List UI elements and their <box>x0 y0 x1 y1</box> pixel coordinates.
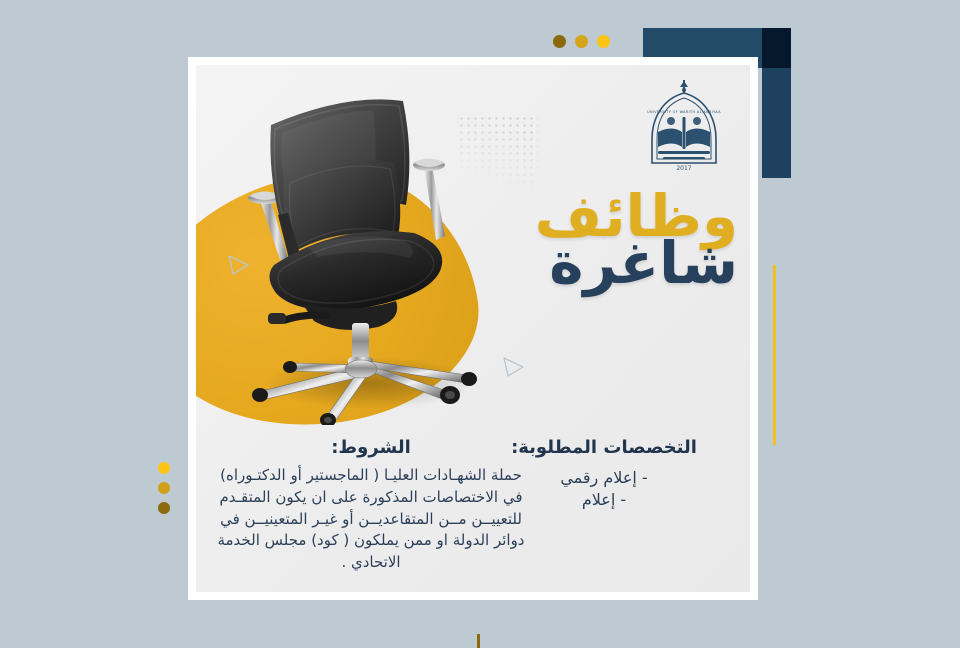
poster-card: 2017 UNIVERSITY OF WARITH AL-ANBIYAA وظا… <box>188 57 758 600</box>
headline-line-2: شاغرة <box>438 237 738 290</box>
university-logo-icon: 2017 UNIVERSITY OF WARITH AL-ANBIYAA <box>636 77 732 177</box>
logo-outer-text: UNIVERSITY OF WARITH AL-ANBIYAA <box>647 110 721 114</box>
decor-gold-line-right <box>773 265 776 445</box>
decor-dot <box>553 35 566 48</box>
poster-root: 2017 UNIVERSITY OF WARITH AL-ANBIYAA وظا… <box>0 0 960 648</box>
decor-navy-bar-vertical <box>762 68 791 178</box>
decor-dot <box>597 35 610 48</box>
poster-card-inner: 2017 UNIVERSITY OF WARITH AL-ANBIYAA وظا… <box>196 65 750 592</box>
decor-dot <box>158 482 170 494</box>
decor-gold-line-bottom <box>477 634 480 648</box>
decor-dot <box>158 502 170 514</box>
conditions-title: الشروط: <box>210 437 532 458</box>
decor-dots-left <box>158 462 170 514</box>
logo-year: 2017 <box>676 165 691 172</box>
decor-dot <box>158 462 170 474</box>
decor-dots-top <box>553 35 610 48</box>
decor-navy-square-dark <box>762 28 791 68</box>
conditions-body: حملة الشهـادات العليـا ( الماجستير أو ال… <box>210 465 532 574</box>
decor-dot <box>575 35 588 48</box>
conditions-section: الشروط: حملة الشهـادات العليـا ( الماجست… <box>210 437 532 574</box>
headline: وظائف شاغرة <box>438 190 738 291</box>
